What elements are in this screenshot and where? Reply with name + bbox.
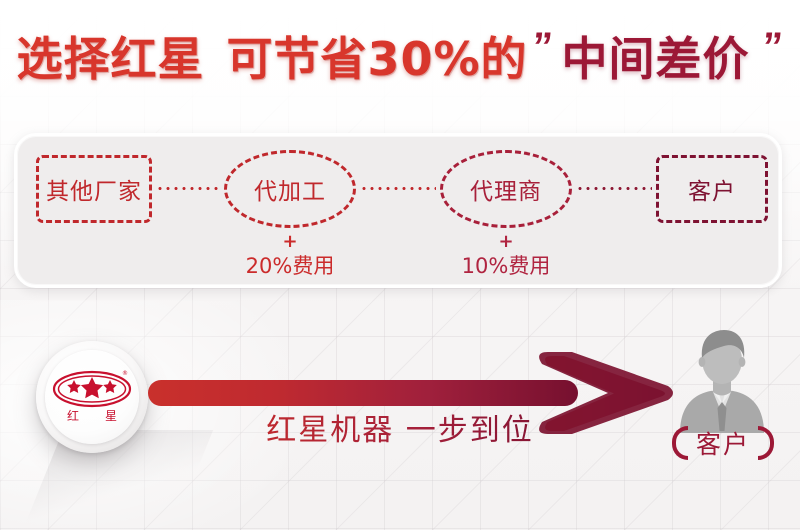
svg-text:星: 星 [105,409,117,423]
connector-dots-1 [156,187,220,190]
quote-close-icon: ” [759,25,782,70]
svg-text:红: 红 [67,408,79,423]
headline-part-savings: 可节省30%的 [226,36,527,82]
fee-plus-sign: + [226,233,354,251]
flow-node-other-factory[interactable]: 其他厂家 [36,155,152,223]
fee-amount: 10%费用 [442,256,570,277]
logo-mark-icon: ® 红 星 [50,367,134,425]
bracket-left-icon [672,426,688,460]
flow-node-agent[interactable]: 代理商 [440,150,572,228]
fee-plus-sign: + [442,233,570,251]
flow-node-customer[interactable]: 客户 [656,155,768,223]
fee-label-10: + 10%费用 [442,233,570,277]
flow-node-label: 其他厂家 [46,172,142,206]
customer-badge: 客户 [648,424,798,462]
connector-dots-2 [360,187,436,190]
svg-text:®: ® [122,370,128,377]
customer-avatar-icon [668,328,776,433]
customer-badge-label: 客户 [696,425,750,461]
arrow-slogan: 红星机器 一步到位 [230,405,570,449]
headline-part-margin: 中间差价 [562,36,750,82]
flow-node-oem-processing[interactable]: 代加工 [224,150,356,228]
quote-open-icon: ” [529,25,552,70]
poster-canvas: 选择红星 可节省30%的 ” 中间差价 ” 其他厂家 代加工 + 20%费用 代… [0,0,800,530]
page-title: 选择红星 可节省30%的 ” 中间差价 ” [0,22,800,96]
flow-node-label: 客户 [688,172,736,206]
bracket-right-icon [758,426,774,460]
flow-node-label: 代理商 [470,172,542,206]
hongxing-logo[interactable]: ® 红 星 [36,341,148,453]
flow-node-label: 代加工 [254,172,326,206]
connector-dots-3 [576,187,652,190]
fee-label-20: + 20%费用 [226,233,354,277]
headline-part-choose: 选择红星 [16,36,204,82]
fee-amount: 20%费用 [226,256,354,277]
